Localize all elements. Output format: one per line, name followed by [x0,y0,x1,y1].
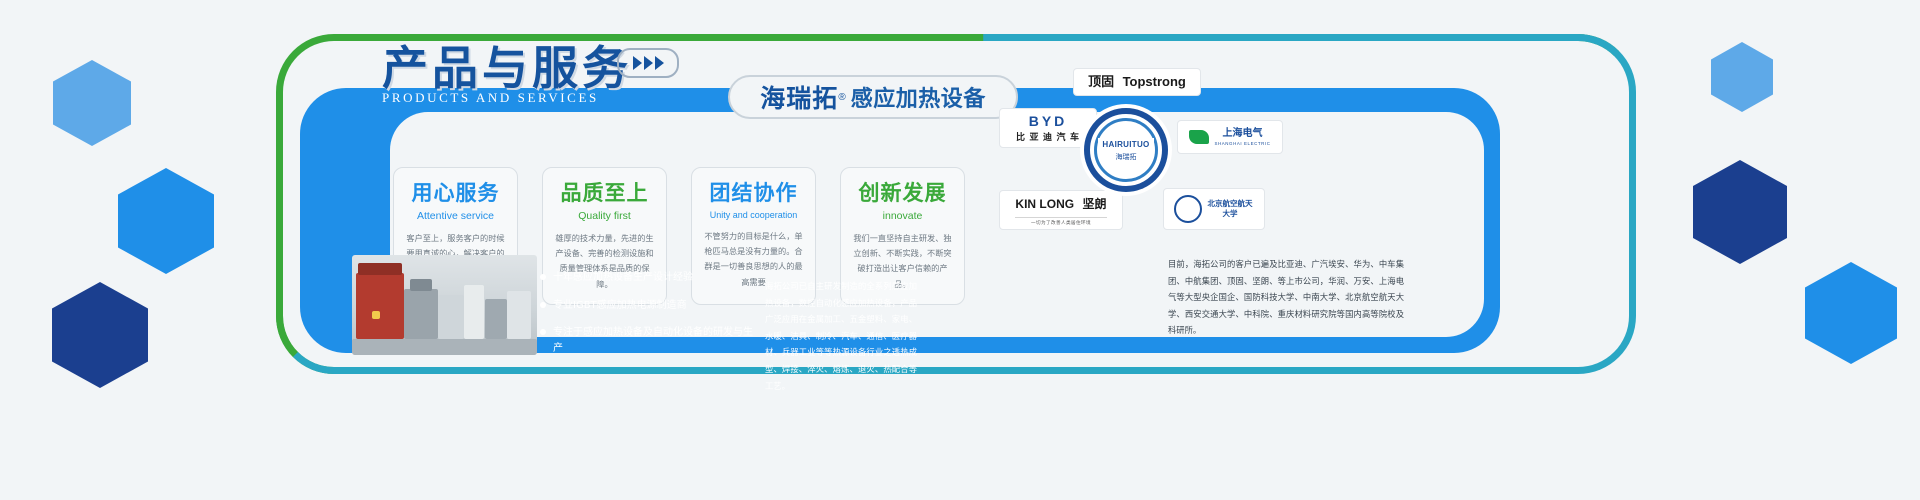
logo-topstrong-cn: 顶固 [1088,74,1114,89]
equipment-photo [352,255,537,355]
logo-kinlong[interactable]: KIN LONG 坚朗 一切为了改善人类居住环境 [999,190,1123,230]
page-title-en: PRODUCTS AND SERVICES [382,90,599,106]
bullet-dot-icon [540,274,546,280]
card-title-cn: 团结协作 [703,182,804,205]
card-title-cn: 用心服务 [405,182,506,205]
card-title-cn: 品质至上 [554,182,655,205]
logo-kinlong-en: KIN LONG [1015,197,1074,211]
bullet-item: 专注于感应加热设备及自动化设备的研发与生产 [540,325,755,356]
bullet-text: 专业IGBT感应加热电源制造商 [553,298,687,314]
logo-shanghai-electric-en: SHANGHAI ELECTRIC [1214,141,1270,147]
ring-logo-cn: 海瑞拓 [1116,152,1137,162]
company-description-left: 海拓公司已自主研发制造的全系列感应加热设备，数控自动化感应加热设备，产品广泛应用… [765,278,917,394]
logo-topstrong-en: Topstrong [1123,74,1186,89]
card-title-cn: 创新发展 [852,182,953,205]
page-title-cn: 产品与服务 [382,32,632,98]
beihang-seal-icon [1174,195,1202,223]
chevron-1 [633,56,642,70]
logo-topstrong[interactable]: 顶固 Topstrong [1073,68,1201,96]
card-title-en: Attentive service [405,210,506,222]
hairuituo-ring-logo: HAIRUITUO 海瑞拓 [1080,104,1172,196]
brand-product-cn: 感应加热设备 [851,81,986,113]
logo-shanghai-electric[interactable]: 上海电气 SHANGHAI ELECTRIC [1177,120,1283,154]
logo-beihang-university[interactable]: 北京航空航天大学 [1163,188,1265,230]
bullet-item: 专业IGBT感应加热电源制造商 [540,298,755,314]
chevron-3 [655,56,664,70]
client-list-right: 目前，海拓公司的客户已遍及比亚迪、广汽埃安、华为、中车集团、中航集团、顶固、坚朗… [1168,256,1404,339]
hexagon-decor-4 [1711,42,1773,112]
brand-name-cn: 海瑞拓 [760,79,838,115]
bullet-text: 专注于感应加热设备及自动化设备的研发与生产 [553,325,755,356]
bullet-dot-icon [540,329,546,335]
bullet-text: 十年感应加热设备生产设计经验 [553,270,693,286]
logo-shanghai-electric-cn: 上海电气 [1214,128,1270,141]
card-title-en: Unity and cooperation [703,210,804,220]
bullet-item: 十年感应加热设备生产设计经验 [540,270,755,286]
logo-byd-cn: 比 亚 迪 汽 车 [1016,132,1080,143]
hexagon-decor-1 [53,60,131,146]
registered-mark-icon: ® [838,92,845,103]
chevron-2 [644,56,653,70]
ring-logo-en: HAIRUITUO [1098,138,1153,151]
hexagon-decor-2 [118,168,214,274]
logo-kinlong-cn: 坚朗 [1083,197,1107,211]
logo-byd-en: BYD [1016,113,1080,131]
poster-stage: 产品与服务 PRODUCTS AND SERVICES 海瑞拓®感应加热设备 用… [0,0,1920,500]
card-title-en: innovate [852,210,953,222]
shanghai-electric-mark-icon [1189,130,1209,144]
card-title-en: Quality first [554,210,655,222]
logo-kinlong-tagline: 一切为了改善人类居住环境 [1015,217,1106,226]
brand-pill: 海瑞拓®感应加热设备 [728,75,1018,119]
logo-beihang-cn: 北京航空航天大学 [1206,199,1254,219]
triple-chevron-right-icon [617,48,679,78]
feature-bullet-list: 十年感应加热设备生产设计经验 专业IGBT感应加热电源制造商 专注于感应加热设备… [540,270,755,368]
hexagon-decor-3 [52,282,148,388]
hexagon-decor-5 [1693,160,1787,264]
hexagon-decor-6 [1805,262,1897,364]
bullet-dot-icon [540,302,546,308]
